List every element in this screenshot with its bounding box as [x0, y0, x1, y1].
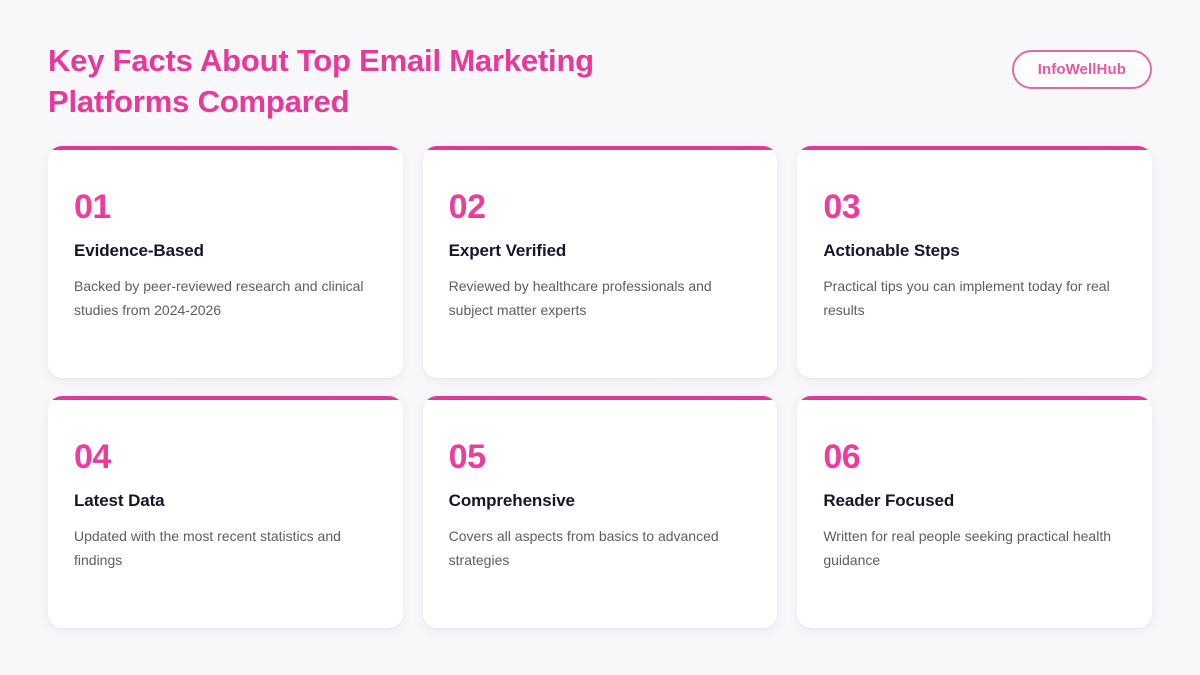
card-description: Updated with the most recent statistics … — [74, 524, 377, 572]
page-title: Key Facts About Top Email Marketing Plat… — [48, 40, 688, 122]
fact-card[interactable]: 02 Expert Verified Reviewed by healthcar… — [423, 146, 778, 378]
card-description: Practical tips you can implement today f… — [823, 274, 1126, 322]
card-accent-bar — [423, 396, 778, 400]
card-title: Reader Focused — [823, 490, 1126, 512]
fact-card-grid: 01 Evidence-Based Backed by peer-reviewe… — [48, 146, 1152, 628]
fact-card[interactable]: 03 Actionable Steps Practical tips you c… — [797, 146, 1152, 378]
card-title: Latest Data — [74, 490, 377, 512]
card-description: Backed by peer-reviewed research and cli… — [74, 274, 377, 322]
card-number: 02 — [449, 190, 752, 224]
brand-badge[interactable]: InfoWellHub — [1012, 50, 1152, 89]
fact-card[interactable]: 05 Comprehensive Covers all aspects from… — [423, 396, 778, 628]
card-description: Reviewed by healthcare professionals and… — [449, 274, 752, 322]
card-title: Evidence-Based — [74, 240, 377, 262]
fact-card[interactable]: 06 Reader Focused Written for real peopl… — [797, 396, 1152, 628]
card-title: Actionable Steps — [823, 240, 1126, 262]
card-accent-bar — [797, 396, 1152, 400]
card-title: Comprehensive — [449, 490, 752, 512]
fact-card[interactable]: 04 Latest Data Updated with the most rec… — [48, 396, 403, 628]
card-description: Written for real people seeking practica… — [823, 524, 1126, 572]
card-accent-bar — [48, 396, 403, 400]
card-number: 05 — [449, 440, 752, 474]
card-accent-bar — [423, 146, 778, 150]
card-number: 03 — [823, 190, 1126, 224]
card-number: 01 — [74, 190, 377, 224]
page-header: Key Facts About Top Email Marketing Plat… — [48, 40, 1152, 126]
card-number: 06 — [823, 440, 1126, 474]
card-number: 04 — [74, 440, 377, 474]
card-description: Covers all aspects from basics to advanc… — [449, 524, 752, 572]
infographic-page: Key Facts About Top Email Marketing Plat… — [0, 0, 1200, 675]
card-accent-bar — [48, 146, 403, 150]
fact-card[interactable]: 01 Evidence-Based Backed by peer-reviewe… — [48, 146, 403, 378]
card-accent-bar — [797, 146, 1152, 150]
card-title: Expert Verified — [449, 240, 752, 262]
